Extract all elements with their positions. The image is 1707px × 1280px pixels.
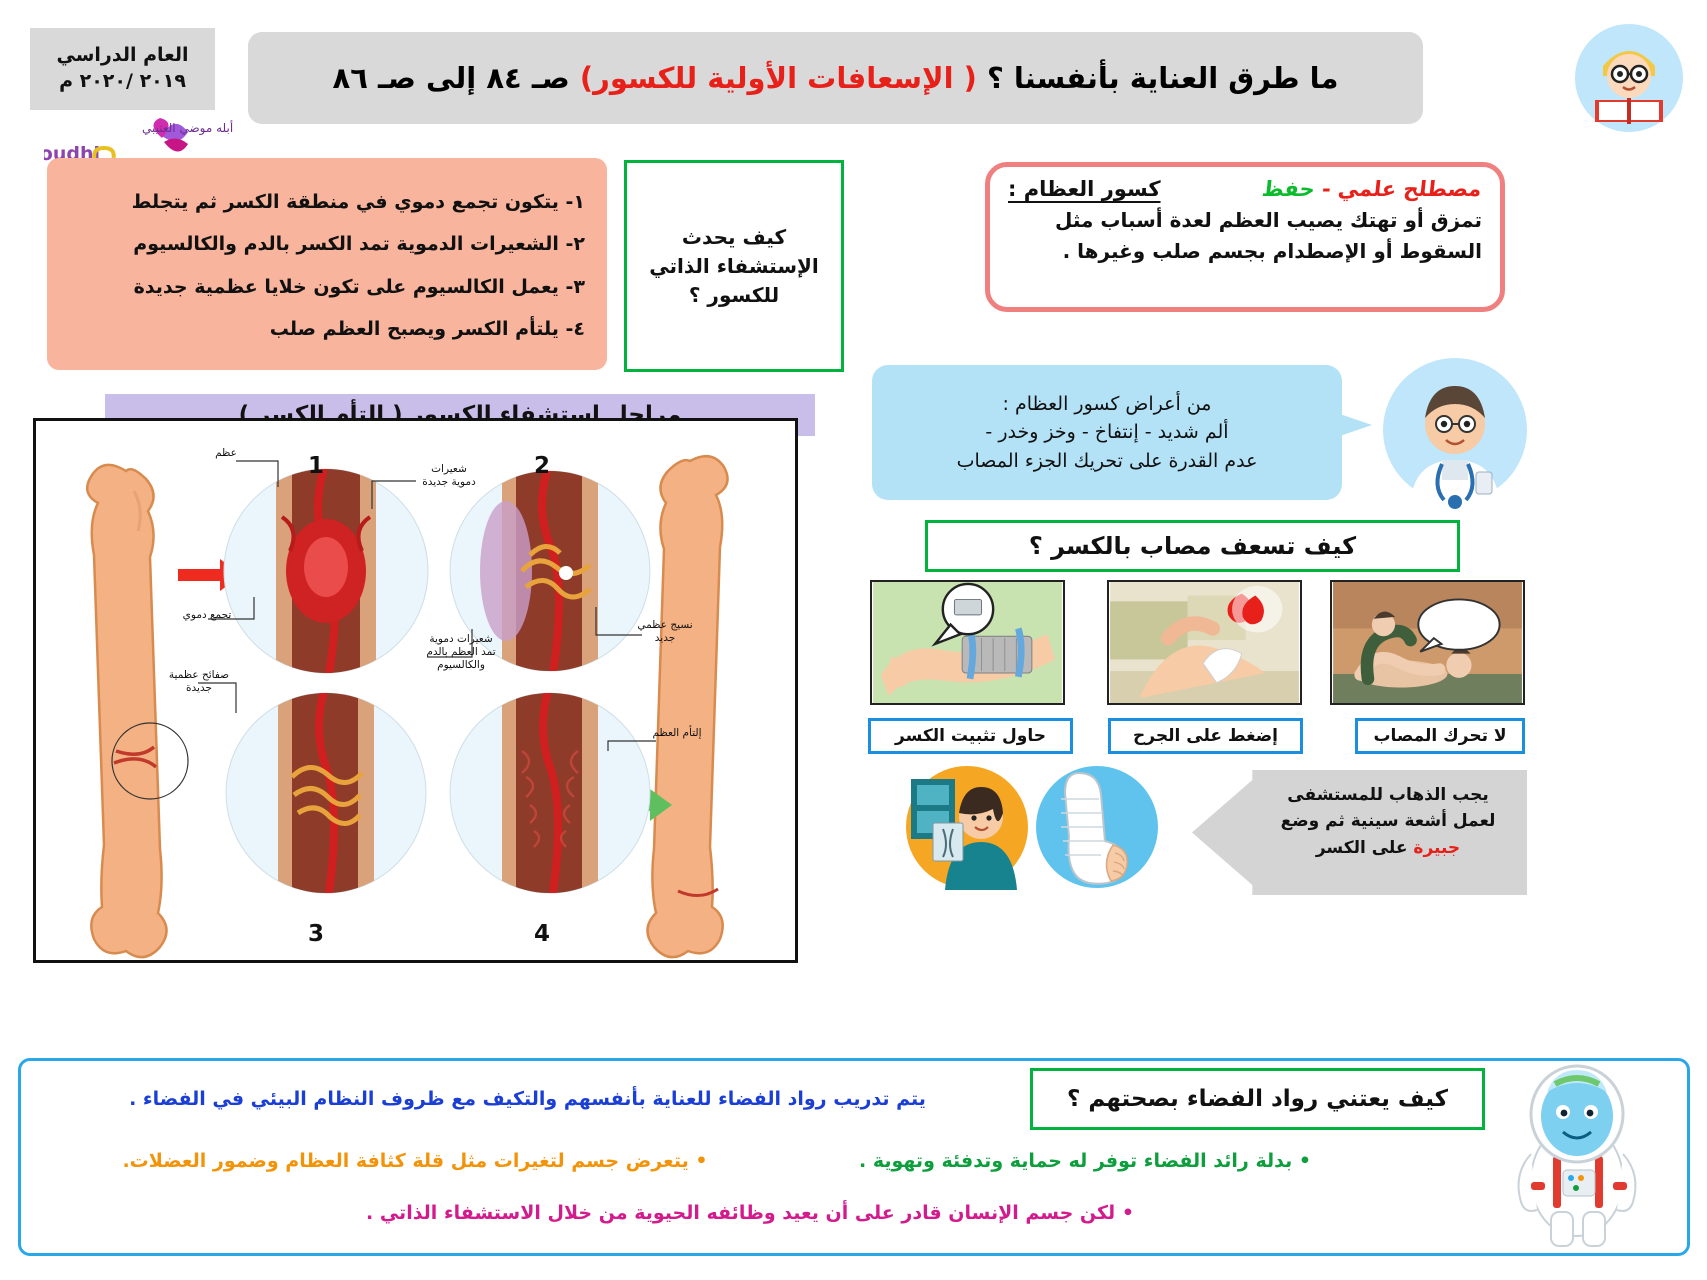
space-point-1-text: يتم تدريب رواد الفضاء للعناية بأنفسهم وا… [129,1088,926,1110]
stage-3-circle [226,683,426,913]
girl-reading-book-icon [1573,22,1685,134]
bullet-icon: • [695,1150,707,1172]
fracture-definition-box: مصطلح علمي - حفظ كسور العظام : تمزق أو ت… [985,162,1505,312]
bullet-icon: • [1122,1202,1134,1224]
caption-text: حاول تثبيت الكسر [895,726,1046,746]
hospital-callout: يجب الذهاب للمستشفى لعمل أشعة سينية ثم و… [1192,770,1527,895]
splint-fracture-icon [870,580,1065,705]
stage-1-circle [224,461,428,691]
step-item: ٢- الشعيرات الدموية تمد الكسر بالدم والك… [63,232,585,257]
tag-separator: - [1321,177,1332,201]
label-bone-union: إلتأم العظم [644,727,710,740]
space-point-2: • بدلة رائد الفضاء توفر له حماية وتدفئة … [820,1150,1350,1172]
definition-body: تمزق أو تهتك يصيب العظم لعدة أسباب مثل ا… [1008,205,1482,267]
symptoms-line-3: عدم القدرة على تحريك الجزء المصاب [957,447,1258,476]
label-new-bone-tissue: نسيج عظمي جديد [634,619,696,645]
definition-header: مصطلح علمي - حفظ كسور العظام : [1008,177,1482,201]
space-point-4-text: لكن جسم الإنسان قادر على أن يعيد وظائفه … [366,1202,1115,1224]
first-aid-question-box: كيف تسعف مصاب بالكسر ؟ [925,520,1460,572]
cast-word: جبيرة [1413,838,1460,858]
first-aid-caption: إضغط على الجرح [1108,718,1303,754]
hospital-line-3: جبيرة على الكسر [1263,835,1513,861]
stage-number: 2 [534,453,550,479]
space-point-3: • يتعرض جسم لتغيرات مثل قلة كثافة العظام… [55,1150,775,1172]
astronaut-icon [1495,1062,1660,1247]
tag-scientific-term: مصطلح علمي [1337,177,1483,201]
space-point-1: يتم تدريب رواد الفضاء للعناية بأنفسهم وا… [55,1088,1000,1110]
school-year-label: العام الدراسي [56,43,188,69]
caption-text: لا تحرك المصاب [1373,726,1506,746]
label-capillaries-supply: شعيرات دموية تمد العظم بالدم والكالسيوم [422,633,500,672]
space-point-2-text: بدلة رائد الفضاء توفر له حماية وتدفئة وت… [859,1150,1292,1172]
bandaged-foot-icon [1035,765,1160,890]
label-new-bone-plates: صفائح عظمية جديدة [166,669,232,695]
page-title: ما طرق العناية بأنفسنا ؟ ( الإسعافات الأ… [333,61,1339,95]
hospital-line-2: لعمل أشعة سينية ثم وضع [1263,808,1513,834]
definition-term: كسور العظام : [1008,177,1161,201]
symptoms-heading: من أعراض كسور العظام : [1003,390,1212,419]
watermark-arabic-text: أبله موضي العتيبي [142,120,233,136]
step-item: ١- يتكون تجمع دموي في منطقة الكسر ثم يتج… [63,190,585,215]
space-point-3-text: يتعرض جسم لتغيرات مثل قلة كثافة العظام و… [122,1150,688,1172]
stage-number: 4 [534,921,550,947]
cast-rest: على الكسر [1316,838,1414,858]
xray-doctor-icon [905,765,1030,890]
bone-healing-diagram [30,421,795,966]
hospital-instructions: يجب الذهاب للمستشفى لعمل أشعة سينية ثم و… [1263,782,1513,861]
space-question-box: كيف يعتني رواد الفضاء بصحتهم ؟ [1030,1068,1485,1130]
scientific-term-tag: مصطلح علمي - حفظ [1261,177,1483,201]
school-year-badge: العام الدراسي ٢٠١٩ /٢٠٢٠ م [30,28,215,110]
bullet-icon: • [1299,1150,1311,1172]
space-question: كيف يعتني رواد الفضاء بصحتهم ؟ [1067,1086,1448,1112]
first-aid-question: كيف تسعف مصاب بالكسر ؟ [1029,532,1356,560]
stage-4-circle [450,683,650,913]
space-point-4: • لكن جسم الإنسان قادر على أن يعيد وظائف… [200,1202,1300,1224]
page-title-bar: ما طرق العناية بأنفسنا ؟ ( الإسعافات الأ… [248,32,1423,124]
page-title-pages: صـ ٨٤ إلى صـ ٨٦ [333,61,570,95]
healing-stages-panel: 1 2 3 4 عظم شعيرات دموية جديدة تجمع دموي… [33,418,798,963]
school-year-value: ٢٠١٩ /٢٠٢٠ م [59,69,186,95]
tag-memorize: حفظ [1261,177,1316,201]
label-blood-clot: تجمع دموي [176,609,238,622]
self-healing-steps-box: ١- يتكون تجمع دموي في منطقة الكسر ثم يتج… [47,158,607,370]
self-healing-question: كيف يحدث الإستشفاء الذاتي للكسور ؟ [635,223,833,310]
do-not-move-injured-icon [1330,580,1525,705]
left-femur-illustration [87,465,166,957]
speech-bubble-tail-icon [1334,408,1372,442]
first-aid-caption: حاول تثبيت الكسر [868,718,1073,754]
label-bone: عظم [204,447,248,460]
step-item: ٣- يعمل الكالسيوم على تكون خلايا عظمية ج… [63,275,585,300]
first-aid-caption: لا تحرك المصاب [1355,718,1525,754]
caption-text: إضغط على الجرح [1133,726,1278,746]
label-new-capillaries: شعيرات دموية جديدة [418,463,480,489]
symptoms-line-2: ألم شديد - إنتفاخ - وخز وخدر - [985,418,1228,447]
right-femur-illustration [647,456,727,957]
hospital-line-1: يجب الذهاب للمستشفى [1263,782,1513,808]
press-on-wound-icon [1107,580,1302,705]
self-healing-question-box: كيف يحدث الإستشفاء الذاتي للكسور ؟ [624,160,844,372]
step-item: ٤- يلتأم الكسر ويصبح العظم صلب [63,317,585,342]
page-title-topic: ( الإسعافات الأولية للكسور) [580,61,977,95]
stage-number: 1 [308,453,324,479]
stage-number: 3 [308,921,324,947]
symptoms-bubble: من أعراض كسور العظام : ألم شديد - إنتفاخ… [872,365,1342,500]
page-title-main: ما طرق العناية بأنفسنا ؟ [987,61,1339,95]
doctor-avatar-icon [1380,352,1530,512]
